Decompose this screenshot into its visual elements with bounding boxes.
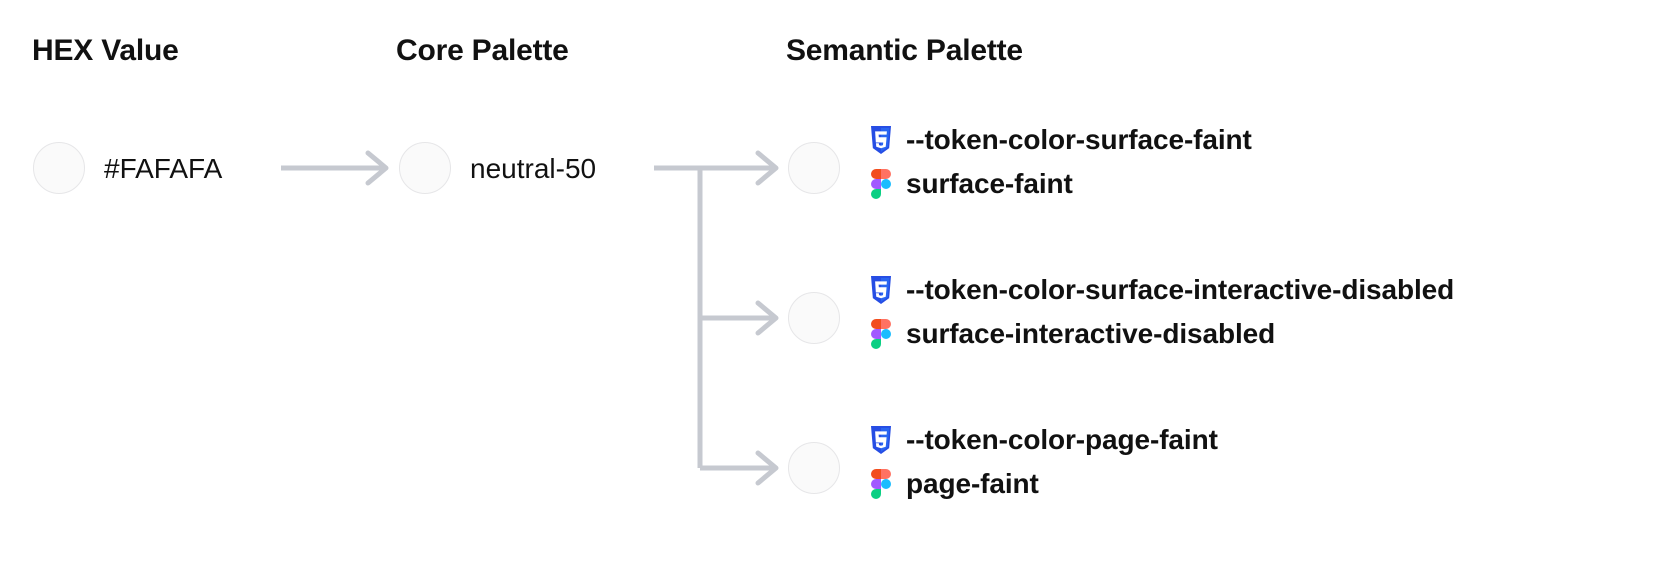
figma-token-label: page-faint: [906, 470, 1039, 498]
color-swatch-semantic-0: [788, 142, 840, 194]
core-palette-value-label: neutral-50: [470, 155, 596, 183]
figma-token-row-1: surface-interactive-disabled: [868, 312, 1454, 356]
figma-icon: [868, 319, 894, 349]
semantic-token-group-0: --token-color-surface-faint surface-fain…: [868, 118, 1252, 206]
figma-token-row-2: page-faint: [868, 462, 1218, 506]
css3-icon: [868, 275, 894, 305]
color-swatch-hex: [33, 142, 85, 194]
css-token-row-2: --token-color-page-faint: [868, 418, 1218, 462]
hex-value-label: #FAFAFA: [104, 155, 222, 183]
color-swatch-semantic-1: [788, 292, 840, 344]
css-token-label: --token-color-page-faint: [906, 426, 1218, 454]
arrow-core-to-semantic-branch: [654, 153, 776, 483]
figma-icon: [868, 469, 894, 499]
semantic-token-group-1: --token-color-surface-interactive-disabl…: [868, 268, 1454, 356]
css-token-label: --token-color-surface-faint: [906, 126, 1252, 154]
figma-icon: [868, 169, 894, 199]
css-token-row-1: --token-color-surface-interactive-disabl…: [868, 268, 1454, 312]
css3-icon: [868, 125, 894, 155]
css-token-label: --token-color-surface-interactive-disabl…: [906, 276, 1454, 304]
column-heading-hex-value: HEX Value: [32, 36, 179, 66]
figma-token-label: surface-interactive-disabled: [906, 320, 1275, 348]
color-swatch-semantic-2: [788, 442, 840, 494]
css3-icon: [868, 425, 894, 455]
figma-token-row-0: surface-faint: [868, 162, 1252, 206]
css-token-row-0: --token-color-surface-faint: [868, 118, 1252, 162]
column-heading-core-palette: Core Palette: [396, 36, 569, 66]
figma-token-label: surface-faint: [906, 170, 1073, 198]
color-swatch-core: [399, 142, 451, 194]
arrow-hex-to-core: [281, 153, 386, 183]
semantic-token-group-2: --token-color-page-faint page-faint: [868, 418, 1218, 506]
column-heading-semantic-palette: Semantic Palette: [786, 36, 1023, 66]
